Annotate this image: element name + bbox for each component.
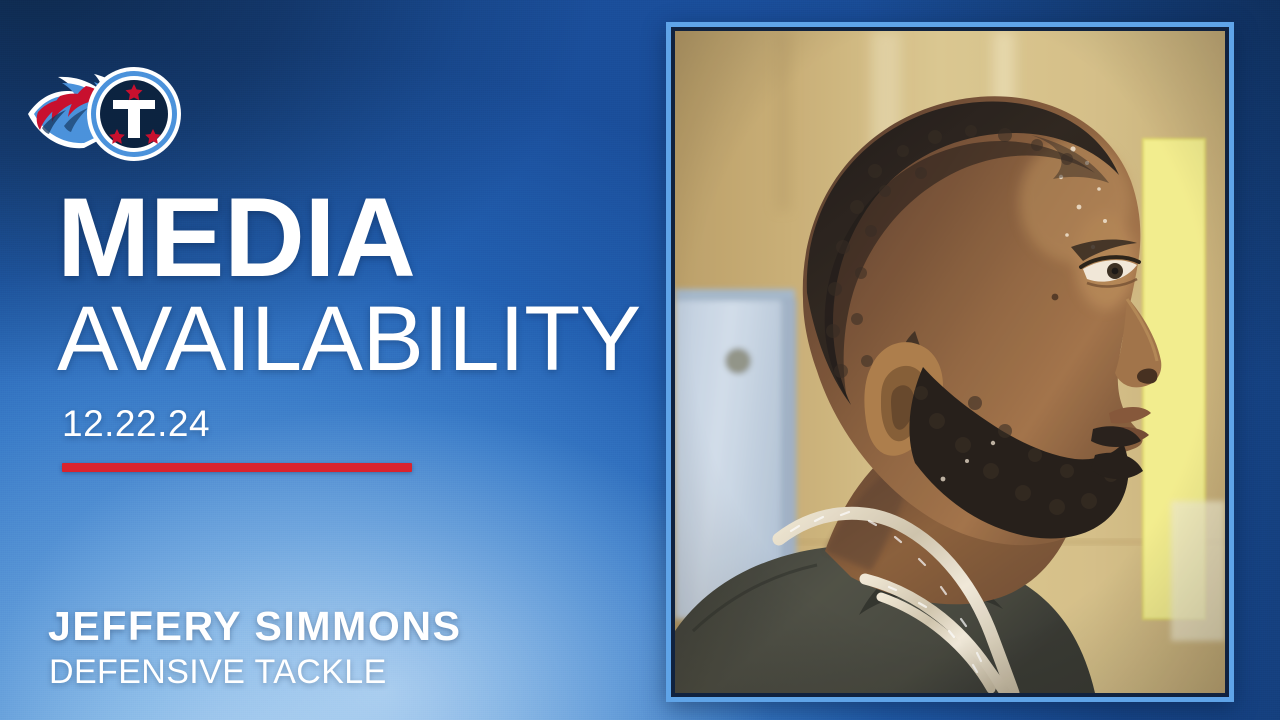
headline-block: MEDIA AVAILABILITY 12.22.24 [57, 186, 677, 472]
titans-logo [14, 52, 192, 168]
player-name-block: JEFFERY SIMMONS DEFENSIVE TACKLE [48, 603, 668, 692]
title-line-media: MEDIA [57, 186, 677, 289]
player-position: DEFENSIVE TACKLE [49, 653, 668, 692]
player-photo [675, 31, 1225, 693]
media-availability-graphic: MEDIA AVAILABILITY 12.22.24 JEFFERY SIMM… [0, 0, 1280, 720]
player-photo-inner-border [671, 27, 1229, 697]
player-name: JEFFERY SIMMONS [48, 603, 668, 650]
title-line-availability: AVAILABILITY [57, 293, 677, 385]
red-accent-rule [62, 463, 412, 472]
date-label: 12.22.24 [62, 403, 677, 445]
player-photo-frame [666, 22, 1234, 702]
